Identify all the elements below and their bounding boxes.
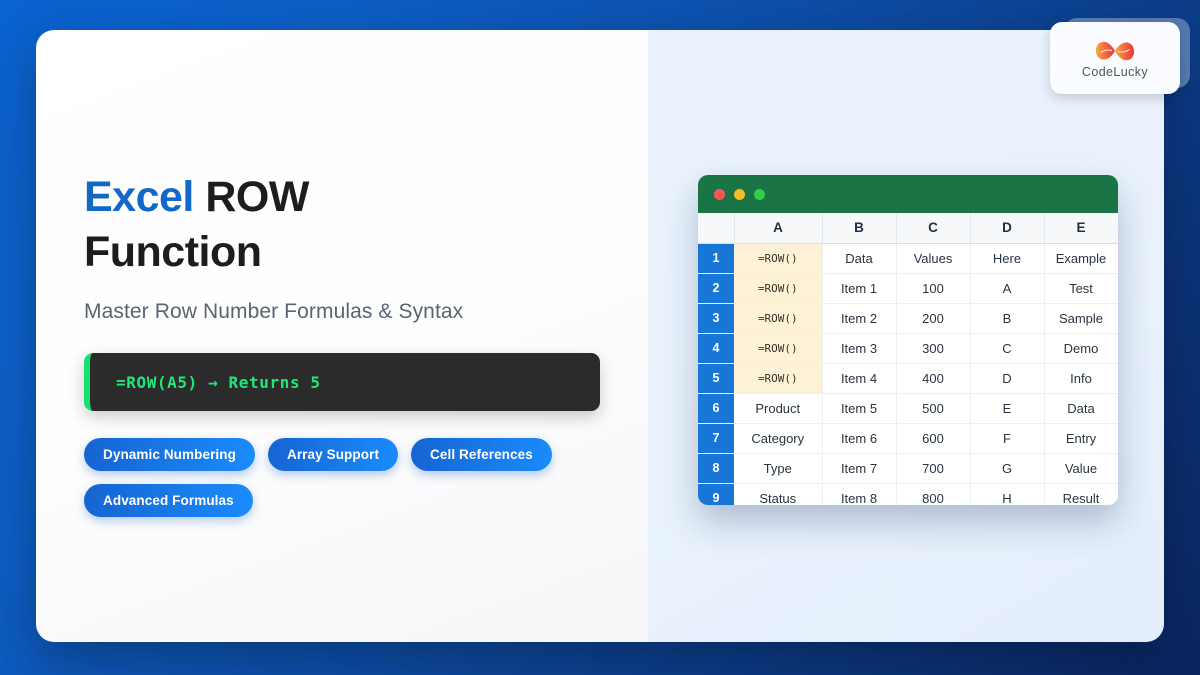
page-title-line2: Function — [84, 228, 262, 276]
cell-D5[interactable]: D — [970, 363, 1044, 393]
cell-B9[interactable]: Item 8 — [822, 483, 896, 505]
cell-B3[interactable]: Item 2 — [822, 303, 896, 333]
cell-C4[interactable]: 300 — [896, 333, 970, 363]
logo-badge[interactable]: CodeLucky — [1050, 22, 1180, 94]
cell-B4[interactable]: Item 3 — [822, 333, 896, 363]
spreadsheet-titlebar — [698, 175, 1118, 213]
left-content: Excel ROW Function Master Row Number For… — [84, 170, 624, 517]
cell-C5[interactable]: 400 — [896, 363, 970, 393]
feature-pill-advanced-formulas[interactable]: Advanced Formulas — [84, 484, 253, 517]
cell-A5[interactable]: =ROW() — [734, 363, 822, 393]
cell-A8[interactable]: Type — [734, 453, 822, 483]
cell-A4[interactable]: =ROW() — [734, 333, 822, 363]
row-header-6[interactable]: 6 — [698, 393, 734, 423]
cell-B2[interactable]: Item 1 — [822, 273, 896, 303]
table-row: 2=ROW()Item 1100ATest — [698, 273, 1118, 303]
cell-C9[interactable]: 800 — [896, 483, 970, 505]
cell-D3[interactable]: B — [970, 303, 1044, 333]
cell-C8[interactable]: 700 — [896, 453, 970, 483]
cell-C2[interactable]: 100 — [896, 273, 970, 303]
cell-D1[interactable]: Here — [970, 243, 1044, 273]
page-subtitle: Master Row Number Formulas & Syntax — [84, 300, 624, 324]
page-title: Excel ROW Function — [84, 170, 624, 280]
column-header-d[interactable]: D — [970, 213, 1044, 243]
row-header-3[interactable]: 3 — [698, 303, 734, 333]
cell-B7[interactable]: Item 6 — [822, 423, 896, 453]
cell-E3[interactable]: Sample — [1044, 303, 1118, 333]
cell-D6[interactable]: E — [970, 393, 1044, 423]
row-header-9[interactable]: 9 — [698, 483, 734, 505]
table-row: 7CategoryItem 6600FEntry — [698, 423, 1118, 453]
cell-D4[interactable]: C — [970, 333, 1044, 363]
cell-E7[interactable]: Entry — [1044, 423, 1118, 453]
cell-E5[interactable]: Info — [1044, 363, 1118, 393]
table-row: 8TypeItem 7700GValue — [698, 453, 1118, 483]
card-right-panel: A B C D E 1=ROW()DataValuesHereExample2=… — [648, 30, 1164, 642]
feature-pill-cell-references[interactable]: Cell References — [411, 438, 552, 471]
cell-E4[interactable]: Demo — [1044, 333, 1118, 363]
cell-B1[interactable]: Data — [822, 243, 896, 273]
close-icon[interactable] — [714, 189, 725, 200]
column-header-a[interactable]: A — [734, 213, 822, 243]
cell-A9[interactable]: Status — [734, 483, 822, 505]
grid-corner — [698, 213, 734, 243]
column-header-c[interactable]: C — [896, 213, 970, 243]
infinity-leaf-icon — [1092, 38, 1138, 64]
cell-D7[interactable]: F — [970, 423, 1044, 453]
cell-E1[interactable]: Example — [1044, 243, 1118, 273]
cell-E8[interactable]: Value — [1044, 453, 1118, 483]
spreadsheet-window: A B C D E 1=ROW()DataValuesHereExample2=… — [698, 175, 1118, 505]
table-row: 3=ROW()Item 2200BSample — [698, 303, 1118, 333]
cell-B8[interactable]: Item 7 — [822, 453, 896, 483]
cell-A6[interactable]: Product — [734, 393, 822, 423]
table-row: 4=ROW()Item 3300CDemo — [698, 333, 1118, 363]
cell-B5[interactable]: Item 4 — [822, 363, 896, 393]
cell-C1[interactable]: Values — [896, 243, 970, 273]
cell-E2[interactable]: Test — [1044, 273, 1118, 303]
table-row: 5=ROW()Item 4400DInfo — [698, 363, 1118, 393]
minimize-icon[interactable] — [734, 189, 745, 200]
code-example-text: =ROW(A5) → Returns 5 — [90, 373, 321, 392]
row-header-7[interactable]: 7 — [698, 423, 734, 453]
cell-E9[interactable]: Result — [1044, 483, 1118, 505]
row-header-4[interactable]: 4 — [698, 333, 734, 363]
spreadsheet-grid: A B C D E 1=ROW()DataValuesHereExample2=… — [698, 213, 1118, 505]
cell-A2[interactable]: =ROW() — [734, 273, 822, 303]
column-header-e[interactable]: E — [1044, 213, 1118, 243]
table-row: 9StatusItem 8800HResult — [698, 483, 1118, 505]
page-title-highlight: Excel — [84, 173, 194, 221]
table-row: 6ProductItem 5500EData — [698, 393, 1118, 423]
feature-pill-list: Dynamic Numbering Array Support Cell Ref… — [84, 438, 554, 517]
cell-C7[interactable]: 600 — [896, 423, 970, 453]
cell-A3[interactable]: =ROW() — [734, 303, 822, 333]
cell-D9[interactable]: H — [970, 483, 1044, 505]
row-header-8[interactable]: 8 — [698, 453, 734, 483]
page-title-rest: ROW — [194, 173, 309, 221]
row-header-5[interactable]: 5 — [698, 363, 734, 393]
cell-C6[interactable]: 500 — [896, 393, 970, 423]
logo-text: CodeLucky — [1082, 65, 1148, 79]
column-header-b[interactable]: B — [822, 213, 896, 243]
cell-A1[interactable]: =ROW() — [734, 243, 822, 273]
table-row: 1=ROW()DataValuesHereExample — [698, 243, 1118, 273]
code-example-block: =ROW(A5) → Returns 5 — [84, 353, 600, 411]
cell-D2[interactable]: A — [970, 273, 1044, 303]
hero-card: Excel ROW Function Master Row Number For… — [36, 30, 1164, 642]
cell-E6[interactable]: Data — [1044, 393, 1118, 423]
maximize-icon[interactable] — [754, 189, 765, 200]
cell-A7[interactable]: Category — [734, 423, 822, 453]
cell-C3[interactable]: 200 — [896, 303, 970, 333]
row-header-1[interactable]: 1 — [698, 243, 734, 273]
spreadsheet-body: 1=ROW()DataValuesHereExample2=ROW()Item … — [698, 243, 1118, 505]
feature-pill-array-support[interactable]: Array Support — [268, 438, 398, 471]
card-left-panel: Excel ROW Function Master Row Number For… — [36, 30, 648, 642]
row-header-2[interactable]: 2 — [698, 273, 734, 303]
cell-D8[interactable]: G — [970, 453, 1044, 483]
feature-pill-dynamic-numbering[interactable]: Dynamic Numbering — [84, 438, 255, 471]
cell-B6[interactable]: Item 5 — [822, 393, 896, 423]
column-header-row: A B C D E — [698, 213, 1118, 243]
